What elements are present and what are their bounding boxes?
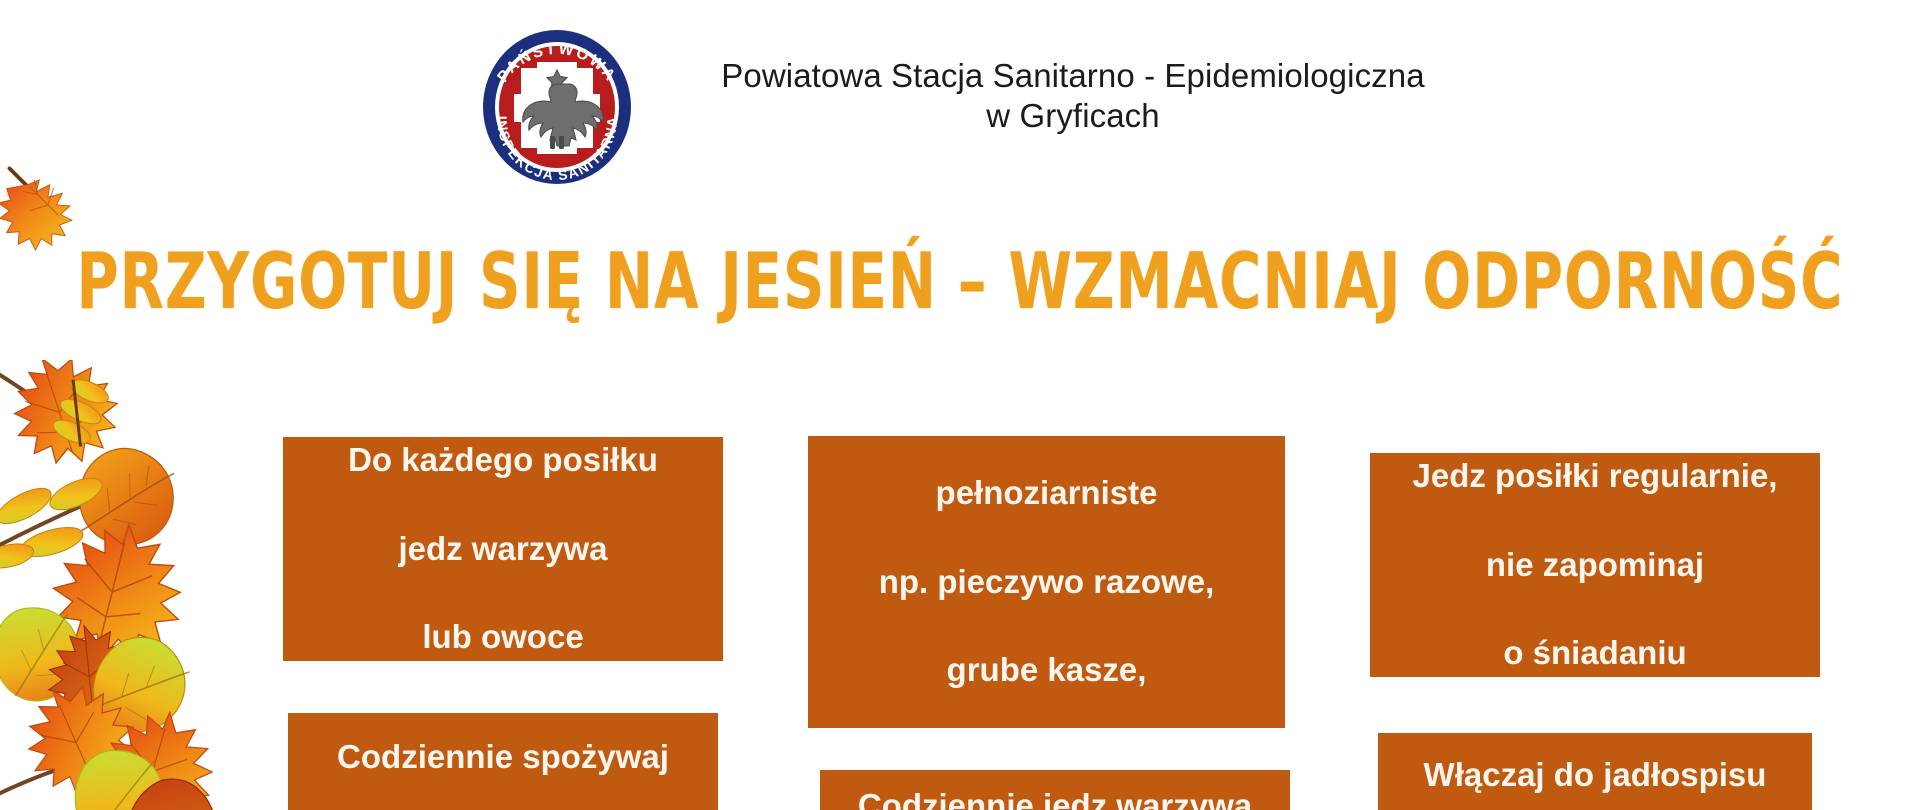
advice-line: Jedz posiłki regularnie, xyxy=(1384,454,1806,498)
advice-line: Włączaj do jadłospisu xyxy=(1392,753,1798,797)
poster-header: PAŃSTWOWA INSPEKCJA SANITARNA Powiatowa … xyxy=(0,18,1920,178)
organization-name-line1: Powiatowa Stacja Sanitarno - Epidemiolog… xyxy=(721,57,1424,94)
advice-line: lub owoce xyxy=(297,615,709,659)
advice-box-regular-meals: Jedz posiłki regularnie, nie zapominaj o… xyxy=(1370,453,1820,677)
advice-box-daily-vegetables: Codziennie jedz warzywa xyxy=(820,770,1290,810)
advice-line: nie zapominaj xyxy=(1384,543,1806,587)
advice-line: grube kasze, xyxy=(822,648,1271,692)
advice-box-wholegrain: Jedz produkty zbożowe pełnoziarniste np.… xyxy=(808,436,1285,728)
advice-line: Codziennie jedz warzywa xyxy=(834,784,1276,810)
organization-name: Powiatowa Stacja Sanitarno - Epidemiolog… xyxy=(693,18,1453,137)
autumn-leaves-cluster-icon xyxy=(0,360,256,810)
advice-box-vegetables-fruit: Do każdego posiłku jedz warzywa lub owoc… xyxy=(283,437,723,661)
advice-line: o śniadaniu xyxy=(1384,631,1806,675)
advice-line: pełnoziarniste xyxy=(822,471,1271,515)
advice-line: np. pieczywo razowe, xyxy=(822,560,1271,604)
advice-line: jedz warzywa xyxy=(297,527,709,571)
advice-box-fermented: Codziennie spożywaj fermentowane xyxy=(288,713,718,810)
organization-name-line2: w Gryficach xyxy=(693,96,1453,136)
page-title: PRZYGOTUJ SIĘ NA JESIEŃ – WZMACNIAJ ODPO… xyxy=(58,244,1863,322)
panstwowa-inspekcja-sanitarna-logo: PAŃSTWOWA INSPEKCJA SANITARNA xyxy=(467,18,647,196)
advice-box-menu-rich: Włączaj do jadłospisu produkty bogate xyxy=(1378,733,1812,810)
poster-canvas: PAŃSTWOWA INSPEKCJA SANITARNA Powiatowa … xyxy=(0,0,1920,810)
advice-line: Do każdego posiłku xyxy=(297,438,709,482)
advice-line: Codziennie spożywaj xyxy=(302,735,704,779)
